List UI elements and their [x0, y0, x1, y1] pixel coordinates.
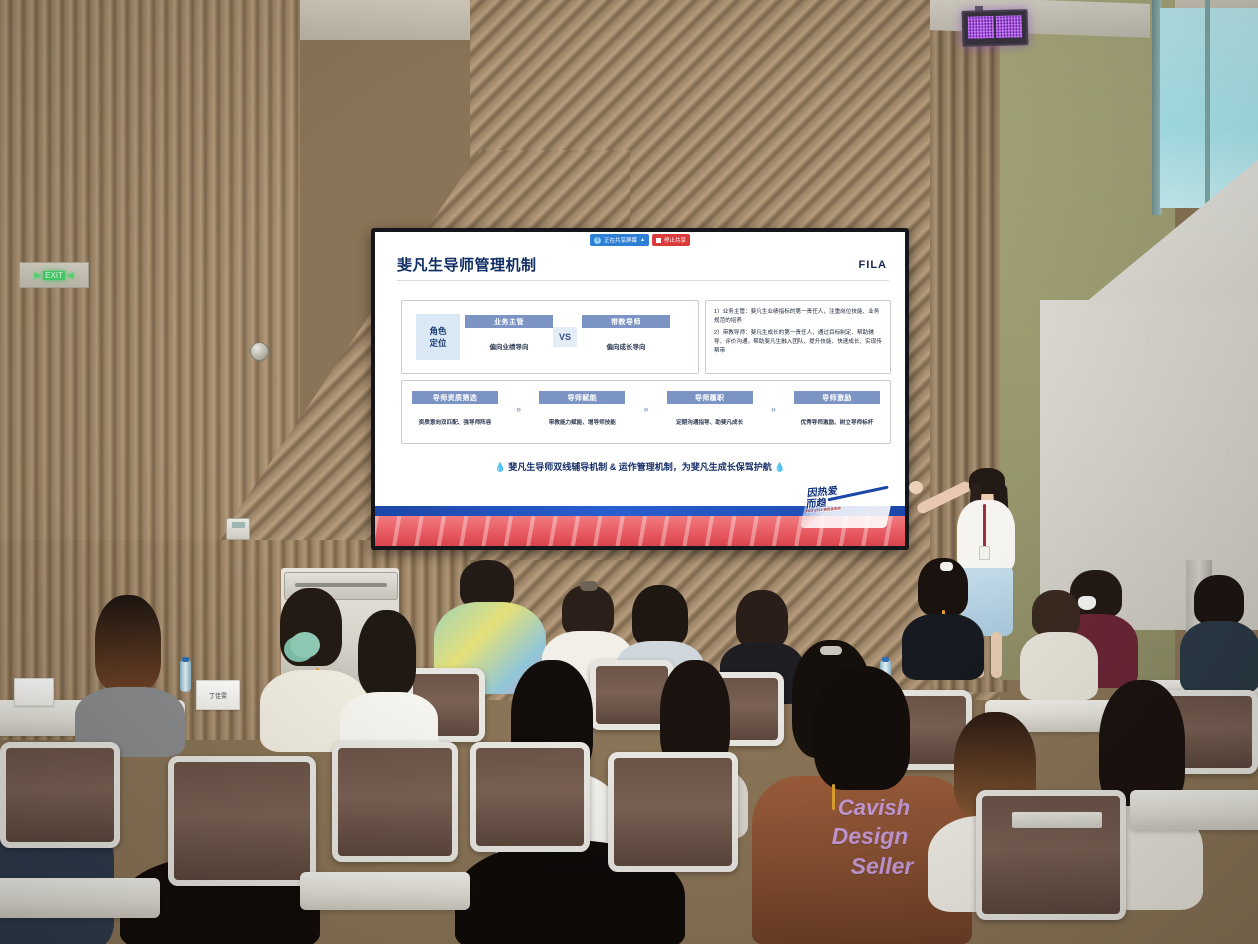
role-chip: 角色 定位	[416, 314, 460, 360]
stop-square-icon	[656, 238, 661, 243]
chair	[470, 742, 590, 852]
role-description-panel: 1）业务主管：斐凡生业绩指标的第一责任人，注重岗位技能、业务规范的培养 2）带教…	[705, 300, 891, 374]
flow-step-4: 导师激励 优秀导师激励、树立导师标杆	[794, 391, 880, 426]
role-definition-panel: 角色 定位 业务主管 偏向业绩导向 VS 带教导师 偏向成长导向	[401, 300, 699, 374]
chair	[332, 742, 458, 862]
presenter-lanyard	[983, 504, 986, 548]
table	[0, 878, 160, 918]
ceiling-led-panel-icon	[962, 9, 1029, 47]
stop-sharing-label: 停止共享	[664, 236, 686, 244]
flow-step-1: 导师资质筛选 资质意向双匹配、强导师阵容	[412, 391, 498, 426]
role-bar-mentor: 带教导师	[582, 315, 670, 328]
slide-footer-band: 因热爱 而趋 FILA 2024 因热爱而趋	[375, 506, 905, 546]
hair-clip-icon	[820, 646, 842, 655]
flow-step-3-bar: 导师履职	[667, 391, 753, 404]
thermostat-panel[interactable]	[226, 518, 250, 540]
shirt-text-line2: Design	[800, 824, 940, 848]
sharing-status-button[interactable]: ⇪ 正在共享屏幕 ▲	[590, 234, 649, 246]
wall-speaker-icon	[250, 342, 269, 361]
flow-step-3-caption: 定期沟通指导、助斐凡成长	[667, 418, 753, 426]
conference-room-scene: ▶ EXIT ◀ ⇪ 正在共享屏幕 ▲ 停止共享 斐凡生导师管理机制 FILA	[0, 0, 1258, 944]
audience-member	[900, 558, 986, 678]
role-sub-business: 偏向业绩导向	[465, 341, 553, 351]
flow-step-2: 导师赋能 带教能力赋能、增导师技能	[539, 391, 625, 426]
chevron-up-icon[interactable]: ▲	[640, 237, 645, 243]
exit-sign-left-glyph: ▶	[34, 270, 41, 281]
slide-canvas: ⇪ 正在共享屏幕 ▲ 停止共享 斐凡生导师管理机制 FILA 角色 定位	[375, 232, 905, 546]
title-divider	[397, 280, 889, 281]
flow-step-4-bar: 导师激励	[794, 391, 880, 404]
role-bullet-list: 1）业务主管：斐凡生业绩指标的第一责任人，注重岗位技能、业务规范的培养 2）带教…	[714, 308, 884, 359]
name-tent-card: 丁佳雯	[196, 680, 240, 710]
table	[1130, 790, 1258, 830]
chair	[0, 742, 120, 848]
role-column-business: 业务主管 偏向业绩导向	[465, 315, 553, 351]
stop-sharing-button[interactable]: 停止共享	[652, 234, 690, 246]
flow-step-2-bar: 导师赋能	[539, 391, 625, 404]
slide-title: 斐凡生导师管理机制	[397, 254, 537, 275]
laptop	[1012, 812, 1102, 828]
exit-sign-label: EXIT	[43, 271, 65, 280]
hair-clip-icon	[580, 581, 598, 591]
chair	[608, 752, 738, 872]
hair-tie-icon	[940, 562, 953, 571]
vs-chip: VS	[553, 327, 577, 347]
bullet-item: 2）带教导师：斐凡生成长的第一责任人，通过目标制定、帮助辅导、评价沟通，帮助斐凡…	[714, 329, 884, 356]
sharing-status-label: 正在共享屏幕	[604, 236, 637, 244]
shirt-text-line1: Cavish	[808, 796, 940, 819]
presentation-screen: ⇪ 正在共享屏幕 ▲ 停止共享 斐凡生导师管理机制 FILA 角色 定位	[371, 228, 909, 550]
flow-arrow-icon: »	[753, 404, 794, 414]
chair	[168, 756, 316, 886]
mentor-process-panel: 导师资质筛选 资质意向双匹配、强导师阵容 » 导师赋能 带教能力赋能、增导师技能…	[401, 380, 891, 444]
window-mullion	[1205, 0, 1210, 215]
screen-share-icon: ⇪	[594, 237, 601, 244]
featured-hair	[814, 666, 910, 790]
flow-step-3: 导师履职 定期沟通指导、助斐凡成长	[667, 391, 753, 426]
flow-step-1-caption: 资质意向双匹配、强导师阵容	[412, 418, 498, 426]
role-sub-mentor: 偏向成长导向	[582, 341, 670, 351]
presenter-hand	[909, 481, 923, 494]
flow-step-1-bar: 导师资质筛选	[412, 391, 498, 404]
chair	[976, 790, 1126, 920]
role-chip-line1: 角色	[429, 325, 446, 337]
water-drop-icon: 💧	[495, 462, 506, 472]
water-drop-icon: 💧	[774, 462, 785, 472]
screen-share-toolbar[interactable]: ⇪ 正在共享屏幕 ▲ 停止共享	[590, 234, 690, 246]
exit-sign-right-glyph: ◀	[67, 270, 74, 281]
hair-scrunchie-icon	[290, 632, 320, 658]
role-column-mentor: 带教导师 偏向成长导向	[582, 315, 670, 351]
name-tent-card	[14, 678, 54, 706]
flow-step-4-caption: 优秀导师激励、树立导师标杆	[794, 418, 880, 426]
presenter-leg	[991, 632, 1002, 678]
flow-arrow-icon: »	[498, 404, 539, 414]
role-bar-business: 业务主管	[465, 315, 553, 328]
role-chip-line2: 定位	[429, 337, 446, 349]
slide-highlight-text: 斐凡生导师双线辅导机制 & 运作管理机制，为斐凡生成长保驾护航	[508, 462, 772, 472]
process-flow-row: 导师资质筛选 资质意向双匹配、强导师阵容 » 导师赋能 带教能力赋能、增导师技能…	[412, 391, 880, 426]
audience-member	[1180, 575, 1258, 695]
slide-highlight-line: 💧 斐凡生导师双线辅导机制 & 运作管理机制，为斐凡生成长保驾护航 💧	[375, 460, 905, 473]
face-mask-icon	[1078, 596, 1096, 610]
audience-member	[75, 595, 185, 745]
table	[300, 872, 470, 910]
exit-sign: ▶ EXIT ◀	[19, 262, 89, 288]
audience-member	[340, 610, 440, 750]
bullet-item: 1）业务主管：斐凡生业绩指标的第一责任人，注重岗位技能、业务规范的培养	[714, 308, 884, 326]
flow-arrow-icon: »	[625, 404, 666, 414]
flow-step-2-caption: 带教能力赋能、增导师技能	[539, 418, 625, 426]
fila-logo: FILA	[859, 259, 887, 271]
